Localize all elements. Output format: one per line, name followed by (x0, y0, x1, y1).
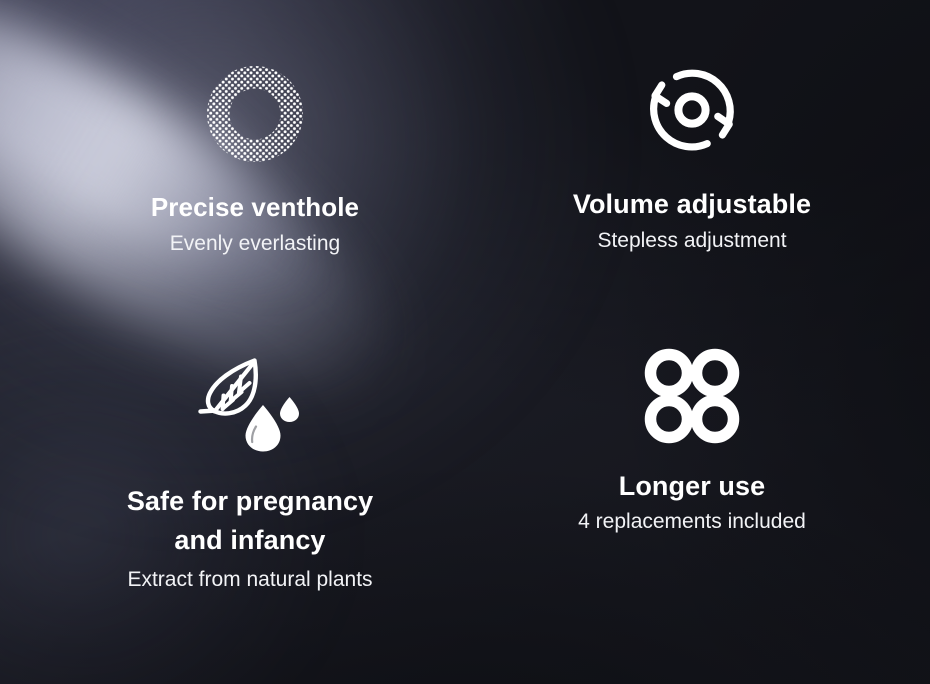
leaf-droplet-icon (194, 352, 306, 456)
feature-card-precise-venthole: Precise venthole Evenly everlasting (35, 62, 475, 257)
feature-title: Precise venthole (151, 192, 359, 223)
halftone-ring-icon (203, 62, 307, 166)
four-rings-icon (644, 348, 740, 444)
feature-card-longer-use: Longer use 4 replacements included (472, 348, 912, 535)
feature-poster: Precise venthole Evenly everlasting (0, 0, 930, 684)
rotation-dial-icon (640, 58, 744, 162)
feature-grid: Precise venthole Evenly everlasting (0, 0, 930, 684)
feature-title: Volume adjustable (573, 188, 811, 220)
feature-title: Longer use (619, 470, 766, 502)
feature-subtitle: 4 replacements included (578, 509, 806, 535)
feature-subtitle: Evenly everlasting (170, 231, 340, 257)
feature-subtitle: Stepless adjustment (597, 228, 786, 254)
feature-title: Safe for pregnancy and infancy (127, 482, 373, 560)
feature-card-safe-for-pregnancy: Safe for pregnancy and infancy Extract f… (30, 352, 470, 593)
feature-subtitle: Extract from natural plants (127, 567, 372, 593)
feature-card-volume-adjustable: Volume adjustable Stepless adjustment (472, 58, 912, 254)
